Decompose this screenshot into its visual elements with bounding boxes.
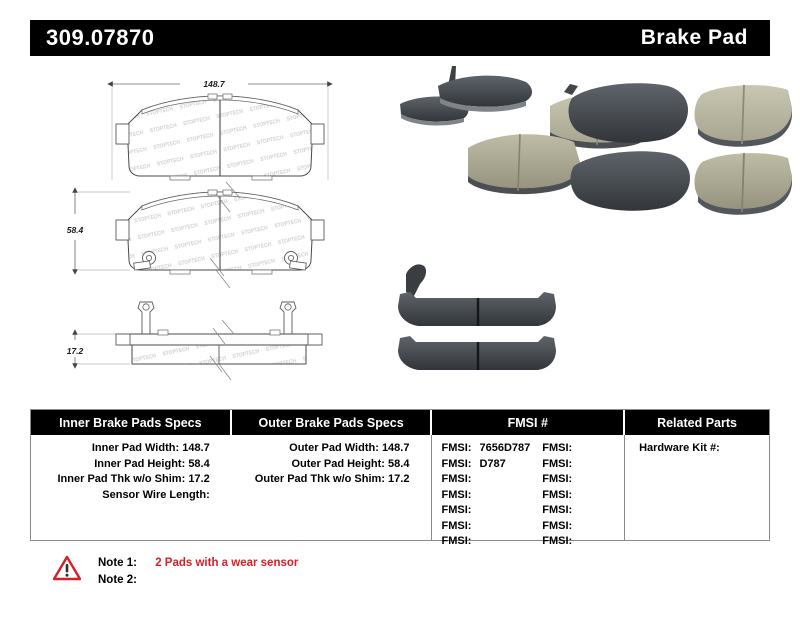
- fmsi-label: FMSI:: [542, 489, 572, 501]
- fmsi-row: FMSI:: [542, 457, 624, 473]
- note-1-value: 2 Pads with a wear sensor: [149, 557, 298, 569]
- spec-label: Sensor Wire Length:: [102, 489, 209, 501]
- note-2-label: Note 2:: [98, 572, 146, 589]
- column-outer-specs: Outer Pad Width: 148.7 Outer Pad Height:…: [232, 435, 433, 541]
- fmsi-value: [471, 504, 476, 516]
- spec-label: Outer Pad Height:: [291, 458, 385, 470]
- specs-table-body: Inner Pad Width: 148.7 Inner Pad Height:…: [31, 435, 769, 541]
- fmsi-label: FMSI:: [441, 489, 471, 501]
- dimension-width-label: 148.7: [203, 79, 226, 89]
- photo-edge-pad-lower: [398, 336, 556, 370]
- technical-drawings: STOPTECH 148.7: [30, 62, 390, 392]
- fmsi-row: FMSI:: [542, 472, 624, 488]
- fmsi-row: FMSI:: [542, 503, 624, 519]
- header-outer-specs: Outer Brake Pads Specs: [232, 410, 433, 435]
- fmsi-label: FMSI:: [441, 520, 471, 532]
- fmsi-subcolumn-2: FMSI: FMSI: FMSI: FMSI: FMSI:: [528, 441, 624, 541]
- fmsi-value: [572, 504, 577, 516]
- fmsi-value: [572, 520, 577, 532]
- fmsi-value: [471, 520, 476, 532]
- photo-edge-pad-upper: [398, 292, 556, 326]
- specs-table: Inner Brake Pads Specs Outer Brake Pads …: [30, 409, 770, 541]
- related-part-row: Hardware Kit #:: [625, 441, 769, 457]
- pad-front-view-top: [116, 94, 324, 180]
- fmsi-label: FMSI:: [542, 473, 572, 485]
- spec-label: Outer Pad Thk w/o Shim:: [255, 473, 385, 485]
- warning-icon: [52, 554, 82, 582]
- fmsi-label: FMSI:: [441, 442, 471, 454]
- spec-label: Inner Pad Thk w/o Shim:: [58, 473, 186, 485]
- fmsi-label: FMSI:: [542, 535, 572, 547]
- fmsi-value: [572, 458, 577, 470]
- fmsi-subcolumn-1: FMSI: 7656D787 FMSI: D787 FMSI: FMSI: FM…: [432, 441, 528, 541]
- spec-row: Outer Pad Thk w/o Shim: 17.2: [232, 472, 432, 488]
- fmsi-value: [572, 489, 577, 501]
- fmsi-value: [471, 473, 476, 485]
- fmsi-row: FMSI:: [542, 488, 624, 504]
- note-lines: Note 1: 2 Pads with a wear sensor Note 2…: [98, 554, 298, 589]
- pad-front-view-sensor: [116, 182, 324, 288]
- photo-pad-tan-lower: [468, 134, 580, 194]
- header-inner-specs: Inner Brake Pads Specs: [31, 410, 232, 435]
- spec-label: Outer Pad Width:: [289, 442, 379, 454]
- fmsi-label: FMSI:: [441, 504, 471, 516]
- photo-pad-dark-sensor: [438, 66, 532, 112]
- column-related-parts: Hardware Kit #:: [625, 435, 769, 541]
- spec-row: Outer Pad Height: 58.4: [232, 457, 432, 473]
- note-2-value: [146, 574, 152, 586]
- fmsi-row: FMSI:: [441, 534, 528, 550]
- spec-label: Inner Pad Width:: [92, 442, 179, 454]
- column-inner-specs: Inner Pad Width: 148.7 Inner Pad Height:…: [31, 435, 232, 541]
- spec-row: Inner Pad Height: 58.4: [31, 457, 232, 473]
- fmsi-row: FMSI:: [441, 488, 528, 504]
- spec-value: 58.4: [388, 458, 409, 470]
- photo-group-flatlay: [564, 83, 792, 214]
- spec-label: Inner Pad Height:: [94, 458, 185, 470]
- fmsi-label: FMSI:: [542, 458, 572, 470]
- fmsi-row: FMSI:: [542, 534, 624, 550]
- fmsi-row: FMSI:: [441, 503, 528, 519]
- related-part-label: Hardware Kit #:: [639, 442, 720, 454]
- fmsi-value: [471, 489, 476, 501]
- fmsi-row: FMSI: D787: [441, 457, 528, 473]
- fmsi-value: [572, 442, 577, 454]
- fmsi-row: FMSI:: [542, 441, 624, 457]
- fmsi-value: [572, 473, 577, 485]
- photo-flat-tan-top: [695, 85, 792, 147]
- title-bar: 309.07870 Brake Pad: [30, 20, 770, 56]
- fmsi-value: [471, 535, 476, 547]
- photo-flat-dark-bottom: [571, 151, 690, 210]
- specs-table-header-row: Inner Brake Pads Specs Outer Brake Pads …: [31, 410, 769, 435]
- column-fmsi: FMSI: 7656D787 FMSI: D787 FMSI: FMSI: FM…: [432, 435, 625, 541]
- fmsi-value: [572, 535, 577, 547]
- spec-row: Inner Pad Thk w/o Shim: 17.2: [31, 472, 232, 488]
- spec-value: 17.2: [388, 473, 409, 485]
- part-number: 309.07870: [30, 25, 155, 51]
- photo-flat-dark-top: [564, 83, 688, 142]
- spec-value: 148.7: [382, 442, 410, 454]
- fmsi-label: FMSI:: [542, 442, 572, 454]
- header-fmsi: FMSI #: [432, 410, 625, 435]
- dimension-height-label: 58.4: [67, 225, 84, 235]
- product-category: Brake Pad: [641, 26, 770, 50]
- product-photos: [392, 62, 770, 392]
- spec-row: Sensor Wire Length:: [31, 488, 232, 504]
- fmsi-label: FMSI:: [441, 535, 471, 547]
- spec-value: 17.2: [188, 473, 209, 485]
- fmsi-row: FMSI:: [441, 519, 528, 535]
- photo-flat-tan-bottom: [695, 153, 792, 215]
- photo-group-edge-on: [398, 264, 556, 370]
- pad-side-profile-view: [116, 302, 322, 380]
- note-1: Note 1: 2 Pads with a wear sensor: [98, 555, 298, 572]
- fmsi-row: FMSI:: [441, 472, 528, 488]
- spec-value: 58.4: [188, 458, 209, 470]
- note-2: Note 2:: [98, 572, 298, 589]
- fmsi-label: FMSI:: [542, 520, 572, 532]
- fmsi-row: FMSI:: [542, 519, 624, 535]
- notes-section: Note 1: 2 Pads with a wear sensor Note 2…: [52, 554, 298, 589]
- fmsi-value: D787: [474, 458, 505, 470]
- spec-row: Inner Pad Width: 148.7: [31, 441, 232, 457]
- dimension-thickness-label: 17.2: [67, 346, 84, 356]
- spec-row: Outer Pad Width: 148.7: [232, 441, 432, 457]
- fmsi-label: FMSI:: [542, 504, 572, 516]
- fmsi-value: 7656D787: [474, 442, 530, 454]
- fmsi-label: FMSI:: [441, 473, 471, 485]
- note-1-label: Note 1:: [98, 555, 146, 572]
- header-related-parts: Related Parts: [625, 410, 769, 435]
- fmsi-label: FMSI:: [441, 458, 471, 470]
- spec-value: 148.7: [182, 442, 210, 454]
- fmsi-row: FMSI: 7656D787: [441, 441, 528, 457]
